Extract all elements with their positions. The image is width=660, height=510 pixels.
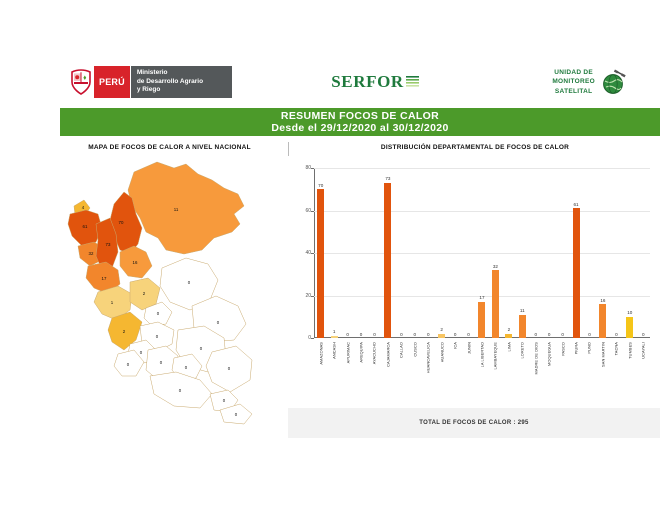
bar-san-martin[interactable]: 16 — [599, 304, 606, 338]
monitoring-unit-name: UNIDAD DE MONITOREO SATELITAL — [552, 68, 595, 96]
x-label-ica: ICA — [453, 342, 458, 349]
bar-cell[interactable]: 0 — [462, 168, 475, 338]
x-label-cell: PIURA — [569, 342, 582, 404]
bar-tumbes[interactable]: 10 — [626, 317, 633, 338]
x-label-cell: CUSCO — [408, 342, 421, 404]
map-value-amazonas: 70 — [119, 220, 124, 225]
bar-amazonas[interactable]: 70 — [317, 189, 324, 338]
bar-value-label: 0 — [588, 332, 591, 337]
serfor-logo: SERFOR — [300, 62, 450, 102]
x-label-cell: HUANCAVELICA — [422, 342, 435, 404]
bar-value-label: 61 — [573, 202, 578, 207]
bar-cell[interactable]: 0 — [341, 168, 354, 338]
x-label-amazonas: AMAZONAS — [318, 342, 323, 365]
chart-plot-area: 020406080 701000730002001732211000610160… — [314, 168, 650, 338]
x-label-lima: LIMA — [506, 342, 511, 351]
map-value-lambayeque: 32 — [89, 251, 94, 256]
bar-cell[interactable]: 73 — [381, 168, 394, 338]
bar-cell[interactable]: 32 — [489, 168, 502, 338]
x-label-cell: UCAYALI — [637, 342, 650, 404]
satellite-globe-icon — [600, 69, 626, 95]
bar-cell[interactable]: 10 — [623, 168, 636, 338]
departmental-bar-chart: 020406080 701000730002001732211000610160… — [288, 158, 660, 426]
x-label-cell: AREQUIPA — [354, 342, 367, 404]
unit-line-3: SATELITAL — [552, 87, 595, 96]
bar-cell[interactable]: 11 — [516, 168, 529, 338]
x-label-cell: ANCASH — [327, 342, 340, 404]
x-label-arequipa: AREQUIPA — [359, 342, 364, 363]
x-label-cell: TUMBES — [623, 342, 636, 404]
total-footer: TOTAL DE FOCOS DE CALOR : 295 — [288, 408, 660, 438]
bar-value-label: 0 — [373, 332, 376, 337]
bar-value-label: 0 — [534, 332, 537, 337]
x-label-ancash: ANCASH — [332, 342, 337, 359]
bar-value-label: 16 — [600, 298, 605, 303]
x-label-pasco: PASCO — [560, 342, 565, 356]
x-label-cell: MADRE DE DIOS — [529, 342, 542, 404]
bar-value-label: 2 — [508, 327, 511, 332]
serfor-wordmark: SERFOR — [331, 72, 404, 92]
x-label-ucayali: UCAYALI — [641, 342, 646, 359]
ministry-line-2: de Desarrollo Agrario — [137, 78, 225, 87]
bar-ancash[interactable]: 1 — [331, 336, 338, 338]
bar-cajamarca[interactable]: 73 — [384, 183, 391, 338]
peru-heat-map: 4 61 70 11 32 73 16 17 1 2 0 2 0 0 0 0 0… — [62, 158, 280, 428]
bar-cell[interactable]: 2 — [435, 168, 448, 338]
ministry-name: Ministerio de Desarrollo Agrario y Riego — [130, 66, 232, 98]
bar-value-label: 17 — [479, 295, 484, 300]
map-value-cajamarca: 73 — [106, 242, 111, 247]
bar-value-label: 0 — [548, 332, 551, 337]
total-focos-label: TOTAL DE FOCOS DE CALOR : 295 — [419, 420, 528, 426]
peru-wordmark: PERÚ — [94, 66, 130, 98]
x-label-cell: AMAZONAS — [314, 342, 327, 404]
bar-value-label: 0 — [360, 332, 363, 337]
header-brand-bar: PERÚ Ministerio de Desarrollo Agrario y … — [60, 62, 660, 102]
x-label-cell: TACNA — [610, 342, 623, 404]
map-value-san-martin: 16 — [133, 260, 138, 265]
map-region-loreto — [128, 162, 244, 254]
bar-cell[interactable]: 0 — [368, 168, 381, 338]
x-label-lambayeque: LAMBAYEQUE — [493, 342, 498, 370]
bar-huanuco[interactable]: 2 — [438, 334, 445, 338]
report-page: PERÚ Ministerio de Desarrollo Agrario y … — [0, 0, 660, 510]
chart-x-labels: AMAZONASANCASHAPURIMACAREQUIPAAYACUCHOCA… — [314, 342, 650, 404]
bar-value-label: 0 — [346, 332, 349, 337]
x-label-la-libertad: LA LIBERTAD — [479, 342, 484, 367]
bar-la-libertad[interactable]: 17 — [478, 302, 485, 338]
x-label-callao: CALLAO — [399, 342, 404, 358]
serfor-bars-icon — [406, 75, 419, 89]
bar-value-label: 0 — [615, 332, 618, 337]
x-label-cell: PUNO — [583, 342, 596, 404]
map-value-piura: 61 — [83, 224, 88, 229]
x-label-loreto: LORETO — [520, 342, 525, 359]
x-label-cell: CAJAMARCA — [381, 342, 394, 404]
map-value-la-libertad: 17 — [102, 276, 107, 281]
report-date-range: Desde el 29/12/2020 al 30/12/2020 — [271, 122, 448, 134]
bar-cell[interactable]: 1 — [327, 168, 340, 338]
x-label-junin: JUNIN — [466, 342, 471, 354]
x-label-cell: AYACUCHO — [368, 342, 381, 404]
x-label-cell: HUANUCO — [435, 342, 448, 404]
bar-value-label: 10 — [627, 310, 632, 315]
bar-cell[interactable]: 2 — [502, 168, 515, 338]
x-label-ayacucho: AYACUCHO — [372, 342, 377, 364]
bar-value-label: 0 — [467, 332, 470, 337]
x-label-madre-de-dios: MADRE DE DIOS — [533, 342, 538, 374]
x-label-moquegua: MOQUEGUA — [547, 342, 552, 366]
bar-value-label: 0 — [561, 332, 564, 337]
monitoring-unit-logo: UNIDAD DE MONITOREO SATELITAL — [552, 62, 626, 102]
bar-cell[interactable]: 61 — [569, 168, 582, 338]
x-label-cell: LAMBAYEQUE — [489, 342, 502, 404]
bar-lambayeque[interactable]: 32 — [492, 270, 499, 338]
report-title-band: RESUMEN FOCOS DE CALOR Desde el 29/12/20… — [60, 108, 660, 136]
bar-cell[interactable]: 0 — [448, 168, 461, 338]
bar-value-label: 1 — [333, 329, 336, 334]
map-panel-title: MAPA DE FOCOS DE CALOR A NIVEL NACIONAL — [62, 144, 277, 151]
x-label-cell: ICA — [448, 342, 461, 404]
x-label-cell: CALLAO — [395, 342, 408, 404]
bar-cell[interactable]: 70 — [314, 168, 327, 338]
bar-value-label: 0 — [454, 332, 457, 337]
bar-cell[interactable]: 0 — [354, 168, 367, 338]
x-label-cusco: CUSCO — [412, 342, 417, 357]
x-label-cell: PASCO — [556, 342, 569, 404]
bar-value-label: 0 — [414, 332, 417, 337]
bar-value-label: 70 — [318, 183, 323, 188]
bar-cell[interactable]: 0 — [408, 168, 421, 338]
x-label-huanuco: HUANUCO — [439, 342, 444, 362]
bar-cell[interactable]: 0 — [542, 168, 555, 338]
bar-cell[interactable]: 0 — [529, 168, 542, 338]
bar-lima[interactable]: 2 — [505, 334, 512, 338]
y-tick-mark-0 — [311, 338, 314, 339]
ministry-line-1: Ministerio — [137, 69, 225, 78]
bar-value-label: 0 — [400, 332, 403, 337]
x-label-cell: LIMA — [502, 342, 515, 404]
bar-value-label: 0 — [642, 332, 645, 337]
x-label-puno: PUNO — [587, 342, 592, 354]
chart-bars: 701000730002001732211000610160100 — [314, 168, 650, 338]
x-label-apurimac: APURIMAC — [345, 342, 350, 363]
bar-value-label: 2 — [440, 327, 443, 332]
x-label-cell: LA LIBERTAD — [475, 342, 488, 404]
bar-cell[interactable]: 0 — [556, 168, 569, 338]
bar-value-label: 0 — [427, 332, 430, 337]
bar-piura[interactable]: 61 — [573, 208, 580, 338]
chart-panel-title: DISTRIBUCIÓN DEPARTAMENTAL DE FOCOS DE C… — [300, 144, 650, 151]
x-label-cajamarca: CAJAMARCA — [385, 342, 390, 367]
bar-cell[interactable]: 0 — [583, 168, 596, 338]
bar-cell[interactable]: 0 — [422, 168, 435, 338]
bar-value-label: 73 — [385, 176, 390, 181]
x-label-cell: JUNIN — [462, 342, 475, 404]
x-label-cell: MOQUEGUA — [542, 342, 555, 404]
bar-cell[interactable]: 0 — [395, 168, 408, 338]
x-label-cell: SAN MARTIN — [596, 342, 609, 404]
bar-cell[interactable]: 17 — [475, 168, 488, 338]
ministry-line-3: y Riego — [137, 86, 225, 95]
x-label-tumbes: TUMBES — [627, 342, 632, 359]
bar-loreto[interactable]: 11 — [519, 315, 526, 338]
bar-value-label: 32 — [493, 264, 498, 269]
bar-cell[interactable]: 0 — [637, 168, 650, 338]
x-label-tacna: TACNA — [614, 342, 619, 355]
x-label-san-martin: SAN MARTIN — [600, 342, 605, 367]
x-label-cell: APURIMAC — [341, 342, 354, 404]
unit-line-1: UNIDAD DE — [552, 68, 595, 77]
map-value-loreto: 11 — [174, 207, 179, 212]
unit-line-2: MONITOREO — [552, 77, 595, 86]
x-label-piura: PIURA — [574, 342, 579, 354]
bar-cell[interactable]: 0 — [610, 168, 623, 338]
x-label-cell: LORETO — [516, 342, 529, 404]
x-label-huancavelica: HUANCAVELICA — [426, 342, 431, 373]
bar-value-label: 11 — [520, 308, 525, 313]
peru-coat-of-arms-icon — [68, 66, 94, 98]
report-title: RESUMEN FOCOS DE CALOR — [281, 110, 439, 122]
gob-peru-logo: PERÚ Ministerio de Desarrollo Agrario y … — [68, 66, 232, 98]
bar-cell[interactable]: 16 — [596, 168, 609, 338]
peru-map-svg: 4 61 70 11 32 73 16 17 1 2 0 2 0 0 0 0 0… — [62, 158, 280, 426]
panel-divider — [288, 142, 289, 156]
